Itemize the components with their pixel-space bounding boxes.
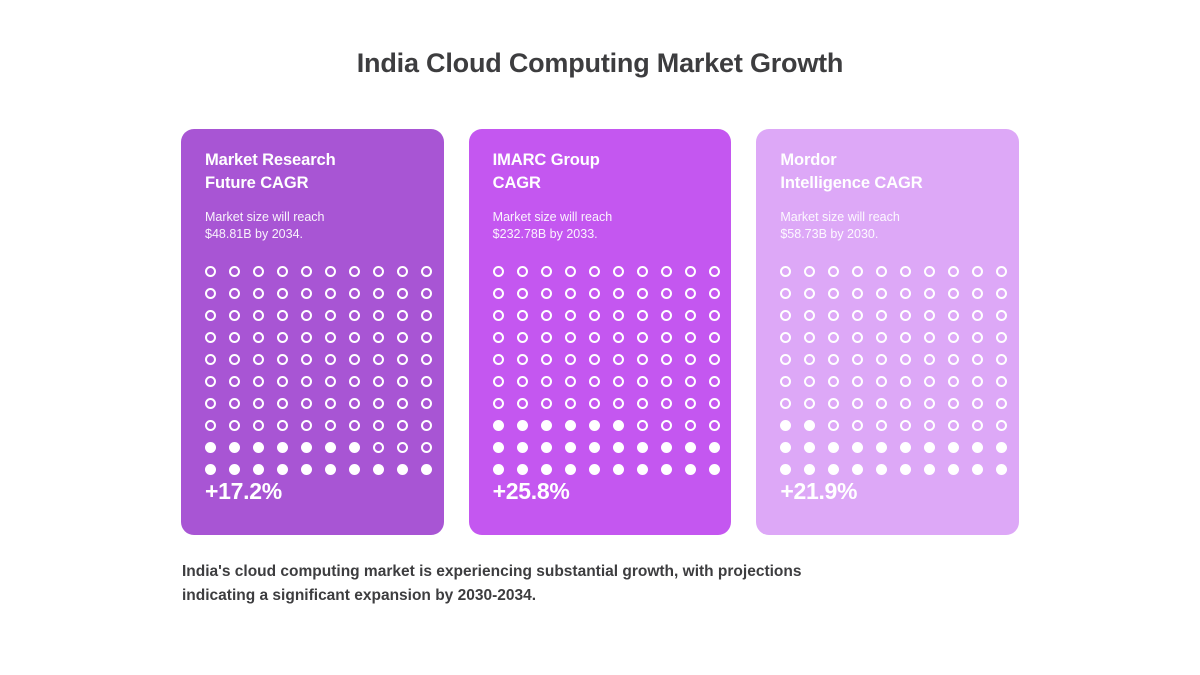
dot-filled-icon — [541, 442, 552, 453]
dot-hollow-icon — [397, 420, 408, 431]
dot-hollow-icon — [876, 420, 887, 431]
dot-cell — [301, 414, 325, 436]
dot-hollow-icon — [277, 288, 288, 299]
dot-cell — [541, 260, 565, 282]
dot-cell — [828, 282, 852, 304]
dot-hollow-icon — [421, 332, 432, 343]
dot-hollow-icon — [589, 376, 600, 387]
dot-hollow-icon — [373, 310, 384, 321]
dot-hollow-icon — [661, 354, 672, 365]
dot-cell — [852, 370, 876, 392]
dot-cell — [972, 370, 996, 392]
dot-cell — [277, 414, 301, 436]
dot-hollow-icon — [397, 288, 408, 299]
dot-hollow-icon — [205, 354, 216, 365]
dot-cell — [661, 458, 685, 480]
dot-hollow-icon — [637, 420, 648, 431]
dot-hollow-icon — [397, 332, 408, 343]
dot-hollow-icon — [709, 354, 720, 365]
dot-hollow-icon — [373, 332, 384, 343]
dot-hollow-icon — [613, 266, 624, 277]
dot-hollow-icon — [517, 354, 528, 365]
dot-cell — [852, 282, 876, 304]
dot-hollow-icon — [709, 398, 720, 409]
dot-cell — [804, 414, 828, 436]
dot-cell — [253, 392, 277, 414]
dot-hollow-icon — [780, 398, 791, 409]
dot-cell — [493, 348, 517, 370]
dot-hollow-icon — [924, 354, 935, 365]
dot-hollow-icon — [277, 354, 288, 365]
dot-hollow-icon — [229, 288, 240, 299]
dot-cell — [804, 458, 828, 480]
dot-cell — [493, 260, 517, 282]
dot-cell — [541, 392, 565, 414]
dot-cell — [924, 392, 948, 414]
dot-cell — [828, 304, 852, 326]
dot-cell — [589, 304, 613, 326]
dot-hollow-icon — [589, 398, 600, 409]
dot-hollow-icon — [852, 420, 863, 431]
dot-cell — [804, 370, 828, 392]
dot-hollow-icon — [253, 266, 264, 277]
dot-cell — [373, 282, 397, 304]
dot-hollow-icon — [900, 376, 911, 387]
dot-filled-icon — [900, 442, 911, 453]
dot-filled-icon — [972, 464, 983, 475]
dot-cell — [301, 458, 325, 480]
dot-cell — [613, 458, 637, 480]
dot-hollow-icon — [277, 420, 288, 431]
dot-hollow-icon — [373, 354, 384, 365]
dot-cell — [709, 260, 732, 282]
dot-hollow-icon — [972, 310, 983, 321]
dot-cell — [541, 282, 565, 304]
dot-cell — [924, 304, 948, 326]
dot-hollow-icon — [637, 332, 648, 343]
dot-hollow-icon — [613, 288, 624, 299]
dot-hollow-icon — [780, 266, 791, 277]
dot-hollow-icon — [661, 332, 672, 343]
dot-cell — [948, 282, 972, 304]
dot-cell — [661, 414, 685, 436]
dot-hollow-icon — [924, 288, 935, 299]
dot-cell — [685, 392, 709, 414]
dot-cell — [589, 414, 613, 436]
dot-hollow-icon — [900, 354, 911, 365]
dot-cell — [397, 282, 421, 304]
dot-hollow-icon — [900, 332, 911, 343]
dot-filled-icon — [852, 464, 863, 475]
dot-cell — [589, 392, 613, 414]
dot-cell — [924, 370, 948, 392]
waffle-dot-grid — [493, 260, 710, 480]
dot-cell — [397, 414, 421, 436]
dot-filled-icon — [637, 464, 648, 475]
dot-cell — [373, 414, 397, 436]
dot-cell — [924, 282, 948, 304]
dot-filled-icon — [876, 442, 887, 453]
dot-hollow-icon — [229, 310, 240, 321]
dot-filled-icon — [373, 464, 384, 475]
dot-cell — [277, 304, 301, 326]
dot-cell — [277, 260, 301, 282]
dot-cell — [828, 370, 852, 392]
dot-filled-icon — [948, 464, 959, 475]
dot-cell — [948, 458, 972, 480]
dot-cell — [780, 348, 804, 370]
dot-cell — [517, 282, 541, 304]
dot-hollow-icon — [828, 354, 839, 365]
dot-hollow-icon — [972, 332, 983, 343]
dot-hollow-icon — [277, 310, 288, 321]
dot-cell — [253, 370, 277, 392]
dot-hollow-icon — [253, 332, 264, 343]
dot-cell — [349, 458, 373, 480]
dot-cell — [685, 370, 709, 392]
dot-hollow-icon — [349, 398, 360, 409]
dot-hollow-icon — [517, 310, 528, 321]
dot-cell — [804, 260, 828, 282]
dot-hollow-icon — [229, 266, 240, 277]
dot-hollow-icon — [852, 354, 863, 365]
dot-hollow-icon — [804, 354, 815, 365]
dot-cell — [565, 392, 589, 414]
dot-hollow-icon — [205, 420, 216, 431]
dot-cell — [613, 436, 637, 458]
dot-hollow-icon — [924, 420, 935, 431]
dot-cell — [589, 260, 613, 282]
dot-filled-icon — [804, 442, 815, 453]
dot-hollow-icon — [565, 266, 576, 277]
dot-hollow-icon — [373, 398, 384, 409]
dot-hollow-icon — [349, 288, 360, 299]
dot-cell — [325, 304, 349, 326]
dot-cell — [852, 458, 876, 480]
dot-hollow-icon — [421, 266, 432, 277]
dot-cell — [637, 414, 661, 436]
dot-cell — [948, 304, 972, 326]
dot-cell — [661, 260, 685, 282]
dot-hollow-icon — [972, 288, 983, 299]
dot-hollow-icon — [541, 310, 552, 321]
dot-cell — [972, 458, 996, 480]
dot-cell — [828, 348, 852, 370]
dot-cell — [637, 392, 661, 414]
dot-cell — [613, 282, 637, 304]
dot-cell — [397, 436, 421, 458]
dot-filled-icon — [517, 442, 528, 453]
dot-hollow-icon — [517, 376, 528, 387]
dot-filled-icon — [541, 420, 552, 431]
dot-cell — [589, 282, 613, 304]
dot-filled-icon — [709, 464, 720, 475]
dot-hollow-icon — [373, 288, 384, 299]
dot-cell — [421, 392, 444, 414]
dot-cell — [373, 348, 397, 370]
dot-hollow-icon — [637, 266, 648, 277]
dot-hollow-icon — [301, 266, 312, 277]
dot-hollow-icon — [661, 266, 672, 277]
dot-cell — [900, 326, 924, 348]
dot-hollow-icon — [517, 288, 528, 299]
dot-hollow-icon — [253, 420, 264, 431]
dot-cell — [565, 326, 589, 348]
dot-hollow-icon — [685, 420, 696, 431]
dot-cell — [589, 326, 613, 348]
dot-hollow-icon — [493, 354, 504, 365]
dot-filled-icon — [397, 464, 408, 475]
dot-hollow-icon — [253, 288, 264, 299]
dot-hollow-icon — [421, 310, 432, 321]
dot-cell — [349, 414, 373, 436]
dot-cell — [613, 348, 637, 370]
dot-cell — [349, 326, 373, 348]
dot-hollow-icon — [205, 332, 216, 343]
dot-cell — [852, 414, 876, 436]
dot-cell — [373, 458, 397, 480]
dot-hollow-icon — [373, 420, 384, 431]
dot-hollow-icon — [325, 332, 336, 343]
dot-hollow-icon — [637, 398, 648, 409]
dot-cell — [229, 326, 253, 348]
dot-cell — [996, 436, 1019, 458]
dot-filled-icon — [253, 464, 264, 475]
dot-filled-icon — [780, 464, 791, 475]
card-title: Mordor Intelligence CAGR — [780, 149, 997, 195]
dot-cell — [277, 392, 301, 414]
dot-hollow-icon — [972, 266, 983, 277]
dot-cell — [924, 326, 948, 348]
dot-cell — [301, 436, 325, 458]
dot-cell — [397, 304, 421, 326]
dot-cell — [349, 436, 373, 458]
dot-cell — [780, 260, 804, 282]
dot-cell — [948, 392, 972, 414]
dot-hollow-icon — [325, 310, 336, 321]
dot-hollow-icon — [661, 376, 672, 387]
dot-hollow-icon — [301, 332, 312, 343]
dot-hollow-icon — [661, 420, 672, 431]
dot-hollow-icon — [709, 420, 720, 431]
dot-hollow-icon — [349, 354, 360, 365]
dot-cell — [493, 370, 517, 392]
dot-cell — [565, 458, 589, 480]
dot-filled-icon — [613, 420, 624, 431]
dot-cell — [948, 348, 972, 370]
dot-cell — [613, 260, 637, 282]
dot-cell — [565, 304, 589, 326]
dot-hollow-icon — [589, 354, 600, 365]
dot-hollow-icon — [277, 376, 288, 387]
dot-hollow-icon — [229, 398, 240, 409]
dot-hollow-icon — [541, 376, 552, 387]
dot-hollow-icon — [565, 354, 576, 365]
dot-cell — [421, 348, 444, 370]
dot-hollow-icon — [685, 398, 696, 409]
dot-cell — [876, 304, 900, 326]
dot-cell — [996, 304, 1019, 326]
dot-cell — [253, 326, 277, 348]
dot-hollow-icon — [397, 442, 408, 453]
dot-cell — [637, 260, 661, 282]
dot-hollow-icon — [349, 376, 360, 387]
dot-hollow-icon — [709, 376, 720, 387]
dot-filled-icon — [709, 442, 720, 453]
dot-hollow-icon — [948, 288, 959, 299]
dot-hollow-icon — [565, 376, 576, 387]
dot-cell — [637, 304, 661, 326]
dot-hollow-icon — [852, 398, 863, 409]
dot-cell — [661, 436, 685, 458]
dot-hollow-icon — [421, 288, 432, 299]
dot-filled-icon — [613, 442, 624, 453]
dot-cell — [972, 414, 996, 436]
dot-cell — [804, 392, 828, 414]
dot-filled-icon — [229, 464, 240, 475]
dot-hollow-icon — [876, 398, 887, 409]
dot-cell — [637, 458, 661, 480]
dot-hollow-icon — [804, 310, 815, 321]
dot-filled-icon — [349, 464, 360, 475]
dot-filled-icon — [229, 442, 240, 453]
dot-cell — [685, 436, 709, 458]
dot-cell — [996, 260, 1019, 282]
dot-cell — [900, 414, 924, 436]
dot-cell — [852, 326, 876, 348]
dot-hollow-icon — [852, 376, 863, 387]
dot-cell — [924, 436, 948, 458]
dot-cell — [852, 436, 876, 458]
dot-hollow-icon — [876, 310, 887, 321]
dot-cell — [876, 282, 900, 304]
dot-cell — [828, 458, 852, 480]
dot-hollow-icon — [900, 266, 911, 277]
dot-cell — [948, 436, 972, 458]
dot-cell — [900, 260, 924, 282]
dot-cell — [373, 392, 397, 414]
dot-cell — [948, 326, 972, 348]
dot-hollow-icon — [301, 398, 312, 409]
dot-cell — [780, 458, 804, 480]
dot-hollow-icon — [924, 332, 935, 343]
dot-cell — [637, 370, 661, 392]
dot-hollow-icon — [229, 420, 240, 431]
dot-cell — [253, 260, 277, 282]
dot-hollow-icon — [685, 266, 696, 277]
dot-hollow-icon — [780, 310, 791, 321]
dot-hollow-icon — [661, 310, 672, 321]
dot-hollow-icon — [661, 288, 672, 299]
dot-hollow-icon — [685, 310, 696, 321]
dot-filled-icon — [325, 442, 336, 453]
dot-hollow-icon — [637, 310, 648, 321]
dot-cell — [325, 348, 349, 370]
dot-filled-icon — [828, 464, 839, 475]
dot-filled-icon — [900, 464, 911, 475]
dot-cell — [277, 458, 301, 480]
dot-hollow-icon — [780, 376, 791, 387]
dot-cell — [709, 458, 732, 480]
dot-cell — [852, 392, 876, 414]
dot-hollow-icon — [780, 288, 791, 299]
dot-cell — [325, 392, 349, 414]
dot-cell — [613, 392, 637, 414]
dot-cell — [709, 414, 732, 436]
dot-hollow-icon — [924, 398, 935, 409]
dot-cell — [421, 414, 444, 436]
dot-filled-icon — [301, 464, 312, 475]
dot-cell — [565, 414, 589, 436]
dot-hollow-icon — [397, 398, 408, 409]
dot-filled-icon — [565, 442, 576, 453]
dot-hollow-icon — [709, 288, 720, 299]
dot-hollow-icon — [948, 398, 959, 409]
dot-cell — [661, 392, 685, 414]
dot-hollow-icon — [277, 398, 288, 409]
dot-hollow-icon — [685, 288, 696, 299]
dot-cell — [804, 304, 828, 326]
dot-cell — [229, 304, 253, 326]
dot-hollow-icon — [229, 376, 240, 387]
dot-cell — [972, 348, 996, 370]
dot-hollow-icon — [637, 354, 648, 365]
dot-cell — [637, 348, 661, 370]
dot-cell — [685, 348, 709, 370]
dot-cell — [301, 304, 325, 326]
dot-filled-icon — [613, 464, 624, 475]
dot-filled-icon — [277, 442, 288, 453]
dot-cell — [900, 392, 924, 414]
dot-hollow-icon — [325, 398, 336, 409]
dot-hollow-icon — [948, 266, 959, 277]
dot-cell — [685, 260, 709, 282]
card-subtitle: Market size will reach $48.81B by 2034. — [205, 209, 422, 245]
dot-hollow-icon — [517, 266, 528, 277]
dot-cell — [373, 326, 397, 348]
dot-hollow-icon — [996, 310, 1007, 321]
dot-cell — [876, 348, 900, 370]
dot-hollow-icon — [349, 420, 360, 431]
metric-card-market-research-future: Market Research Future CAGR Market size … — [181, 129, 444, 535]
dot-cell — [205, 326, 229, 348]
dot-cell — [828, 414, 852, 436]
dot-filled-icon — [589, 420, 600, 431]
dot-hollow-icon — [828, 266, 839, 277]
dot-hollow-icon — [709, 266, 720, 277]
dot-hollow-icon — [828, 332, 839, 343]
dot-filled-icon — [301, 442, 312, 453]
dot-cell — [349, 392, 373, 414]
metric-card-mordor-intelligence: Mordor Intelligence CAGR Market size wil… — [756, 129, 1019, 535]
dot-cell — [205, 458, 229, 480]
dot-cell — [493, 392, 517, 414]
dot-hollow-icon — [229, 332, 240, 343]
dot-hollow-icon — [397, 310, 408, 321]
dot-cell — [253, 304, 277, 326]
dot-cell — [325, 326, 349, 348]
dot-cell — [972, 304, 996, 326]
dot-filled-icon — [780, 442, 791, 453]
dot-cell — [661, 348, 685, 370]
dot-filled-icon — [804, 464, 815, 475]
dot-filled-icon — [565, 464, 576, 475]
dot-cell — [205, 260, 229, 282]
dot-cell — [229, 348, 253, 370]
dot-cell — [996, 392, 1019, 414]
dot-hollow-icon — [541, 354, 552, 365]
waffle-dot-grid — [205, 260, 422, 480]
